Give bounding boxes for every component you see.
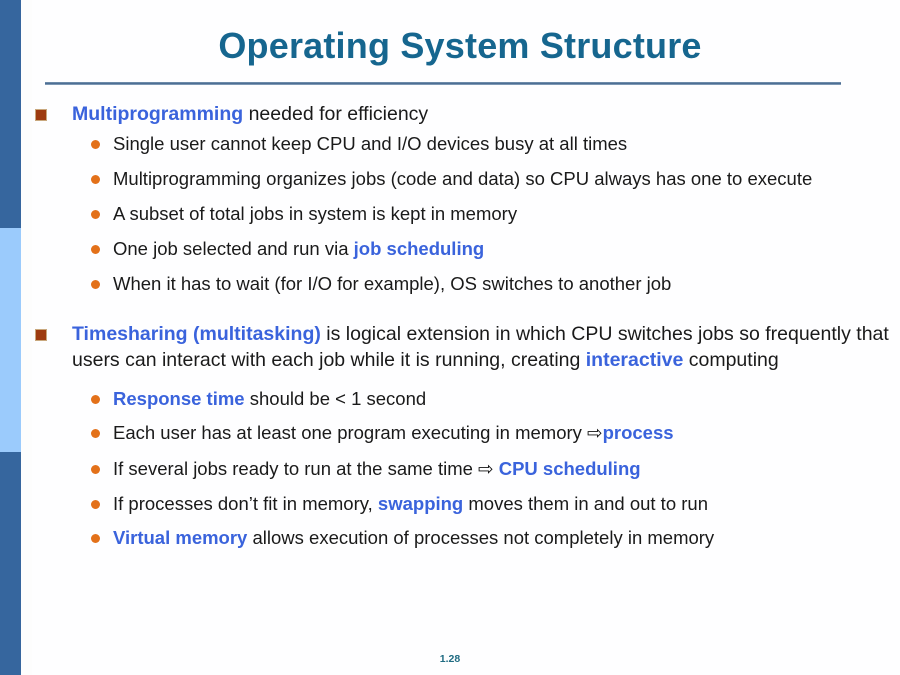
bullet-term-job-scheduling: job scheduling: [354, 238, 485, 259]
bullet-text: Single user cannot keep CPU and I/O devi…: [113, 133, 627, 154]
bullet-text: allows execution of processes not comple…: [247, 527, 714, 548]
dot-bullet-icon: [91, 534, 100, 543]
heading-emphasis: Multiprogramming: [72, 103, 243, 125]
bullet-text-tail: moves them in and out to run: [463, 493, 708, 514]
bullet-term-process: process: [603, 422, 674, 443]
bullet-text: Multiprogramming organizes jobs (code an…: [113, 168, 812, 189]
square-bullet-icon: [35, 109, 47, 121]
list-item: Each user has at least one program execu…: [32, 421, 892, 446]
list-item: Multiprogramming organizes jobs (code an…: [32, 167, 892, 191]
dot-bullet-icon: [91, 175, 100, 184]
dot-bullet-icon: [91, 280, 100, 289]
right-arrow-icon: ⇨: [587, 423, 603, 444]
dot-bullet-icon: [91, 210, 100, 219]
sidebar-gutter: [21, 0, 32, 675]
bullet-term-response-time: Response time: [113, 388, 245, 409]
bullet-text: If several jobs ready to run at the same…: [113, 458, 478, 479]
slide-body: Multiprogramming needed for efficiency S…: [32, 102, 892, 560]
dot-bullet-icon: [91, 395, 100, 404]
bullet-text: If processes don’t fit in memory,: [113, 493, 378, 514]
section-heading-multiprogramming: Multiprogramming needed for efficiency: [32, 102, 892, 128]
dot-bullet-icon: [91, 140, 100, 149]
list-item: If several jobs ready to run at the same…: [32, 457, 892, 482]
bullet-text: A subset of total jobs in system is kept…: [113, 203, 517, 224]
square-bullet-icon: [35, 329, 47, 341]
list-item: Virtual memory allows execution of proce…: [32, 526, 892, 550]
slide-title: Operating System Structure: [32, 26, 888, 66]
list-item: One job selected and run via job schedul…: [32, 237, 892, 261]
heading-emphasis: Timesharing (multitasking): [72, 323, 321, 345]
list-item: Response time should be < 1 second: [32, 387, 892, 411]
sidebar-segment-top: [0, 0, 21, 228]
title-underline-rule: [45, 82, 841, 85]
bullet-text: When it has to wait (for I/O for example…: [113, 273, 671, 294]
slide-canvas: Operating System Structure Multiprogramm…: [0, 0, 900, 675]
bullet-group-timesharing: Response time should be < 1 second Each …: [32, 387, 892, 549]
sidebar-segment-middle: [0, 228, 21, 452]
bullet-term-virtual-memory: Virtual memory: [113, 527, 247, 548]
bullet-text: should be < 1 second: [245, 388, 427, 409]
heading-rest: needed for efficiency: [243, 103, 428, 125]
dot-bullet-icon: [91, 500, 100, 509]
dot-bullet-icon: [91, 465, 100, 474]
list-item: A subset of total jobs in system is kept…: [32, 202, 892, 226]
list-item: When it has to wait (for I/O for example…: [32, 272, 892, 296]
left-accent-sidebar: [0, 0, 21, 675]
bullet-text: One job selected and run via: [113, 238, 354, 259]
bullet-term-cpu-scheduling: CPU scheduling: [494, 458, 641, 479]
bullet-group-multiprogramming: Single user cannot keep CPU and I/O devi…: [32, 132, 892, 296]
bullet-text: Each user has at least one program execu…: [113, 422, 587, 443]
heading-emphasis-interactive: interactive: [586, 349, 684, 371]
dot-bullet-icon: [91, 429, 100, 438]
slide-page-number: 1.28: [0, 653, 900, 665]
dot-bullet-icon: [91, 245, 100, 254]
list-item: Single user cannot keep CPU and I/O devi…: [32, 132, 892, 156]
list-item: If processes don’t fit in memory, swappi…: [32, 492, 892, 516]
section-heading-timesharing: Timesharing (multitasking) is logical ex…: [32, 322, 892, 373]
heading-rest-2: computing: [683, 349, 778, 371]
right-arrow-icon: ⇨: [478, 459, 494, 480]
bullet-term-swapping: swapping: [378, 493, 463, 514]
sidebar-segment-bottom: [0, 452, 21, 675]
